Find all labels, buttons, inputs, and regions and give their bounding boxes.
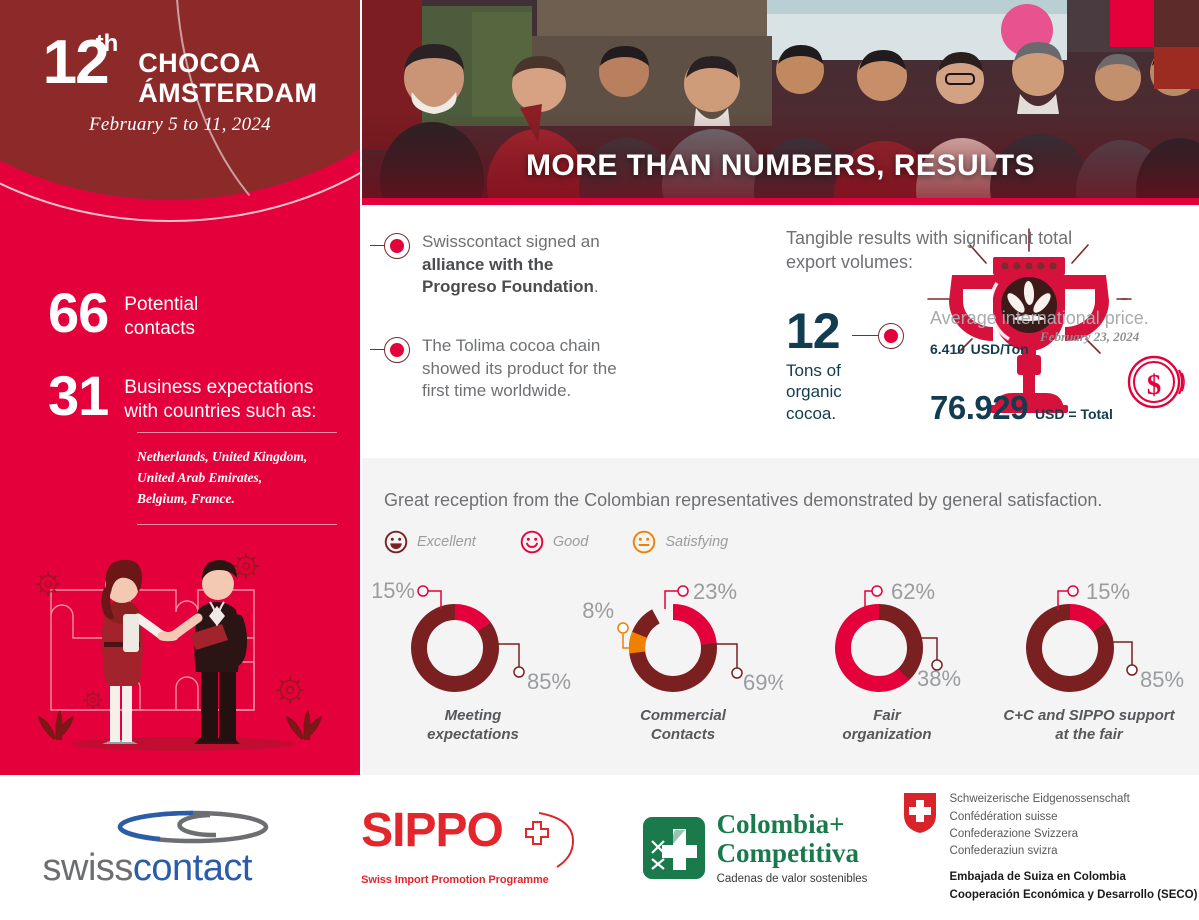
callout-bottom: 38% [917, 666, 961, 691]
price-unit: USD/Ton [971, 341, 1029, 357]
countries-list-wrap: Netherlands, United Kingdom,United Arab … [137, 432, 337, 525]
donut-charts-row: 15% 85% Meetingexpectations [362, 576, 1199, 766]
bullet-dot-icon [384, 337, 410, 363]
seco-line-4: Confederaziun svizra [950, 843, 1198, 860]
result-bullet-alliance: Swisscontact signed an alliance with the… [384, 231, 627, 299]
donut-caption: Fairorganization [782, 706, 992, 744]
tangible-results-text: Tangible results with significant total … [786, 227, 1116, 275]
callout-left: 8% [583, 598, 614, 623]
callout-top: 23% [693, 579, 737, 604]
seco-line-2: Confédération suisse [950, 809, 1198, 826]
banner-title: MORE THAN NUMBERS, RESULTS [362, 149, 1199, 183]
tons-stat: 12 Tons oforganiccocoa. [786, 308, 842, 425]
donut-svg: 62% 38% [787, 576, 987, 706]
bullet-text: The Tolima cocoa chain showed its produc… [422, 335, 627, 403]
swiss-cross-shield-icon [902, 791, 938, 835]
donut-caption: Meetingexpectations [368, 706, 578, 744]
total-row: 76.929 USD = Total [930, 389, 1113, 427]
sippo-tagline: Swiss Import Promotion Programme [361, 874, 579, 886]
swisscontact-mark-icon [98, 805, 288, 845]
logo-colombia-competitiva: Colombia+ Competitiva Cadenas de valor s… [610, 810, 900, 885]
stat-label: Business expectationswith countries such… [124, 369, 316, 424]
divider-bottom [137, 524, 337, 525]
price-date: February 23, 2024 [1040, 329, 1139, 345]
total-unit: USD = Total [1035, 406, 1113, 422]
stat-potential-contacts: 66 Potentialcontacts [48, 286, 198, 341]
dollar-coin-icon: $ [1126, 351, 1188, 413]
results-section: Swisscontact signed an alliance with the… [362, 205, 1199, 458]
infographic-canvas: 12 th CHOCOA ÁMSTERDAM February 5 to 11,… [0, 0, 1199, 920]
donut-caption: CommercialContacts [578, 706, 788, 744]
donut-svg: 23% 8% 69% [583, 576, 783, 706]
price-label: Average international price. [930, 307, 1180, 330]
bullet-post: . [594, 277, 599, 296]
countries-list: Netherlands, United Kingdom,United Arab … [137, 447, 337, 510]
handshake-illustration [18, 522, 342, 772]
callout-top: 15% [373, 578, 415, 603]
swisscontact-part2: contact [133, 847, 252, 889]
price-value: 6.410 [930, 341, 965, 357]
satisfaction-legend: Excellent Good Satisfying [384, 530, 728, 554]
stat-business-expectations: 31 Business expectationswith countries s… [48, 369, 317, 424]
colombia-line2: Competitiva [717, 839, 868, 867]
logo-sippo: SIPPO Swiss Import Promotion Programme [330, 809, 610, 886]
callout-bottom: 69% [743, 670, 783, 695]
bullet-pre: Swisscontact signed an [422, 232, 600, 251]
price-block: Average international price. February 23… [930, 307, 1180, 360]
sippo-wordmark: SIPPO [361, 809, 503, 852]
event-edition-ordinal: th [96, 30, 119, 58]
total-value: 76.929 [930, 389, 1028, 427]
donut-svg: 15% 85% [373, 576, 573, 706]
coin-dollar-glyph: $ [1147, 369, 1162, 401]
legend-label: Good [553, 534, 588, 550]
colombia-tagline: Cadenas de valor sostenibles [717, 873, 868, 885]
bullet-text: Swisscontact signed an alliance with the… [422, 231, 627, 299]
stat-value: 31 [48, 369, 108, 422]
colombia-line1: Colombia+ [717, 810, 868, 838]
stat-label: Potentialcontacts [124, 286, 198, 341]
decor-square-brick [1154, 47, 1199, 89]
logo-seco-embassy: Schweizerische Eidgenossenschaft Confédé… [900, 791, 1199, 904]
donut-svg: 15% 85% [984, 576, 1194, 706]
header-photo-banner: MORE THAN NUMBERS, RESULTS [362, 0, 1199, 205]
tons-value: 12 [786, 308, 842, 356]
divider-top [137, 432, 337, 433]
legend-label: Satisfying [665, 534, 728, 550]
callout-top: 15% [1086, 579, 1130, 604]
event-name-line2: ÁMSTERDAM [138, 78, 317, 108]
legend-item-satisfying: Satisfying [632, 530, 728, 554]
legend-item-excellent: Excellent [384, 530, 476, 554]
footer-logos-bar: swisscontact SIPPO Swiss Import Promotio… [0, 775, 1199, 920]
good-face-icon [520, 530, 544, 554]
event-dates: February 5 to 11, 2024 [0, 114, 360, 136]
event-name: CHOCOA ÁMSTERDAM [138, 34, 317, 108]
event-header: 12 th CHOCOA ÁMSTERDAM February 5 to 11,… [0, 34, 360, 136]
excellent-face-icon [384, 530, 408, 554]
seco-line-3: Confederazione Svizzera [950, 826, 1198, 843]
left-red-panel: 12 th CHOCOA ÁMSTERDAM February 5 to 11,… [0, 0, 360, 775]
tons-label: Tons oforganiccocoa. [786, 360, 842, 425]
swisscontact-wordmark: swisscontact [43, 847, 288, 890]
legend-label: Excellent [417, 534, 476, 550]
satisfaction-headline: Great reception from the Colombian repre… [384, 490, 1102, 511]
seco-line-1: Schweizerische Eidgenossenschaft [950, 791, 1198, 808]
decor-square-dark [1154, 0, 1199, 47]
callout-bottom: 85% [1140, 667, 1184, 692]
legend-item-good: Good [520, 530, 588, 554]
satisfaction-section: Great reception from the Colombian repre… [362, 458, 1199, 775]
donut-caption: C+C and SIPPO supportat the fair [970, 706, 1199, 744]
bullet-dot-icon [384, 233, 410, 259]
callout-top: 62% [891, 579, 935, 604]
result-bullet-tolima: The Tolima cocoa chain showed its produc… [384, 335, 627, 403]
price-bullet-dot-icon [878, 323, 904, 349]
seco-bold-line-2: Cooperación Económica y Desarrollo (SECO… [950, 887, 1198, 904]
colombia-competitiva-mark-icon [643, 817, 705, 879]
swisscontact-part1: swiss [43, 847, 133, 889]
callout-bottom: 85% [527, 669, 571, 694]
satisfying-face-icon [632, 530, 656, 554]
logo-swisscontact: swisscontact [0, 805, 330, 890]
stat-value: 66 [48, 286, 108, 339]
sippo-swoosh-icon [509, 809, 579, 871]
seco-bold-line-1: Embajada de Suiza en Colombia [950, 869, 1198, 886]
event-name-line1: CHOCOA [138, 48, 317, 78]
bullet-bold: alliance with the Progreso Foundation [422, 255, 594, 297]
